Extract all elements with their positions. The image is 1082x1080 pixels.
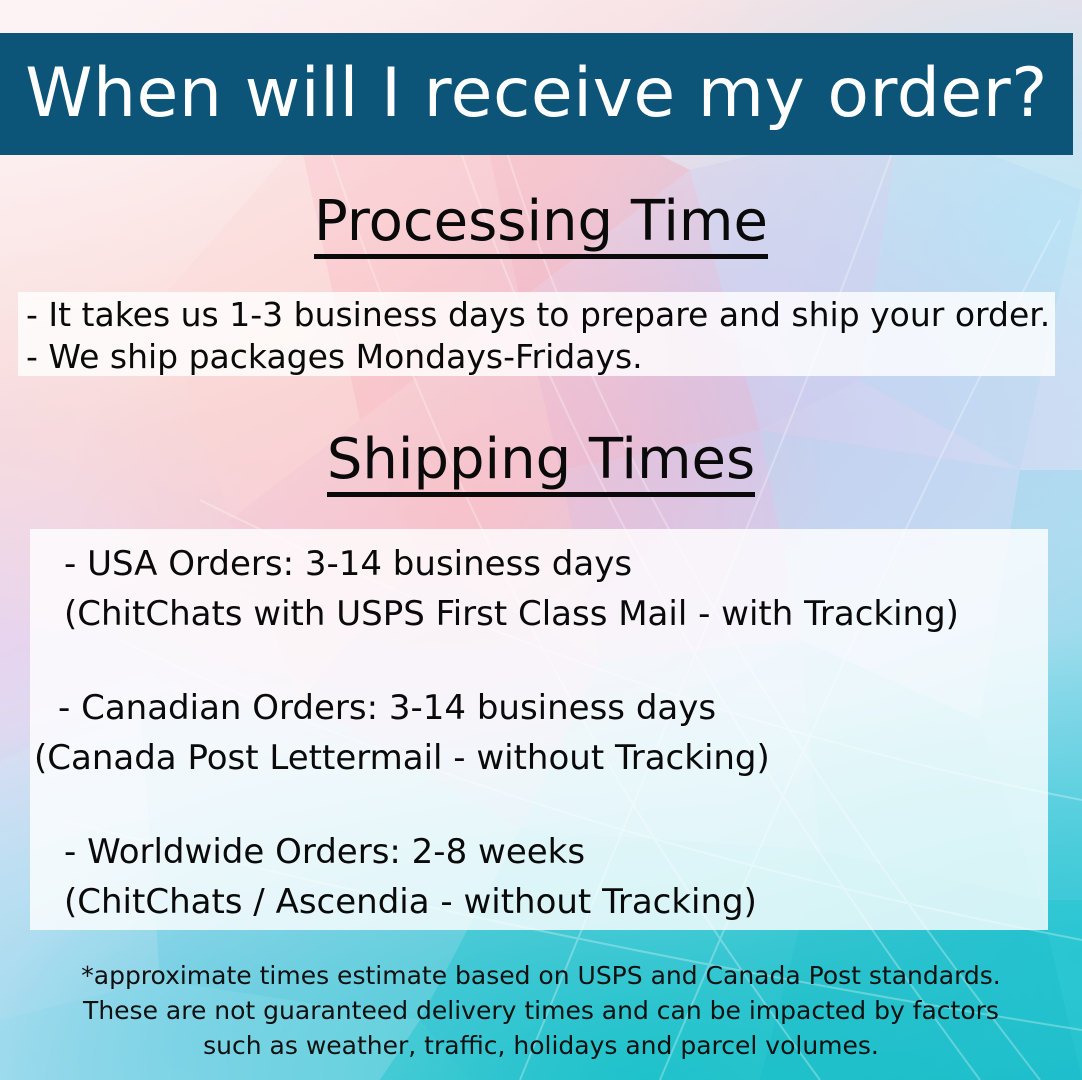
shipping-canada-detail: (Canada Post Lettermail - without Tracki… — [34, 733, 1048, 783]
footer-line-1: *approximate times estimate based on USP… — [0, 958, 1082, 993]
shipping-worldwide-title: - Worldwide Orders: 2-8 weeks — [40, 827, 1048, 877]
section-heading-processing-time: Processing Time — [0, 194, 1082, 259]
page-title: When will I receive my order? — [25, 60, 1048, 128]
shipping-usa-title: - USA Orders: 3-14 business days — [40, 539, 1048, 589]
shipping-usa-detail: (ChitChats with USPS First Class Mail - … — [40, 589, 1048, 639]
footer-disclaimer: *approximate times estimate based on USP… — [0, 958, 1082, 1063]
processing-line-1: - It takes us 1-3 business days to prepa… — [18, 292, 1055, 336]
footer-line-3: such as weather, traffic, holidays and p… — [0, 1028, 1082, 1063]
section-heading-shipping-times-text: Shipping Times — [327, 432, 755, 497]
shipping-times-panel: - USA Orders: 3-14 business days (ChitCh… — [30, 529, 1048, 930]
shipping-info-poster: When will I receive my order? Processing… — [0, 0, 1082, 1080]
shipping-group-worldwide: - Worldwide Orders: 2-8 weeks (ChitChats… — [30, 827, 1048, 927]
processing-time-panel: - It takes us 1-3 business days to prepa… — [18, 292, 1055, 376]
processing-line-2: - We ship packages Mondays-Fridays. — [18, 336, 1055, 378]
shipping-canada-title: - Canadian Orders: 3-14 business days — [34, 683, 1048, 733]
page-title-banner: When will I receive my order? — [0, 33, 1073, 155]
shipping-group-canada: - Canadian Orders: 3-14 business days (C… — [30, 683, 1048, 783]
shipping-worldwide-detail: (ChitChats / Ascendia - without Tracking… — [40, 877, 1048, 927]
footer-line-2: These are not guaranteed delivery times … — [0, 993, 1082, 1028]
shipping-group-usa: - USA Orders: 3-14 business days (ChitCh… — [30, 539, 1048, 639]
section-heading-shipping-times: Shipping Times — [0, 432, 1082, 497]
section-heading-processing-time-text: Processing Time — [314, 194, 768, 259]
